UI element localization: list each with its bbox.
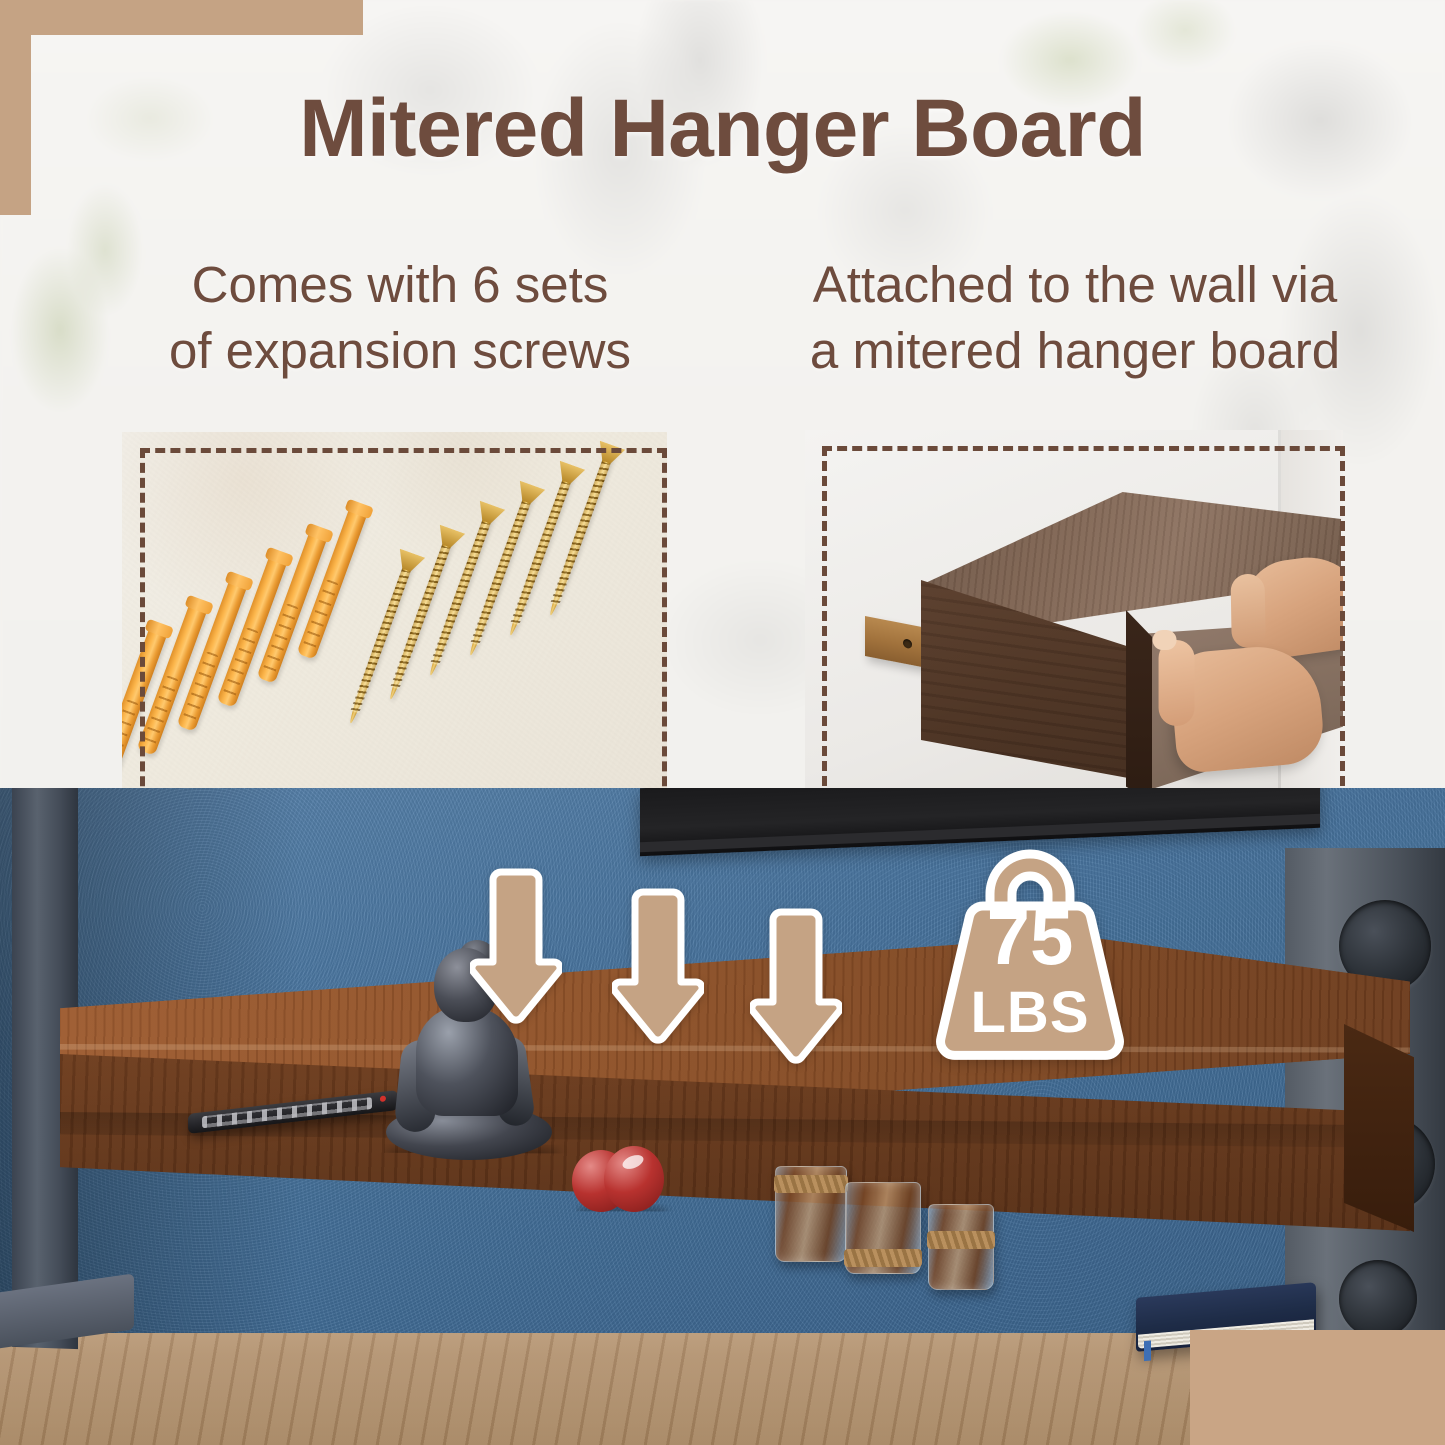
- page-title: Mitered Hanger Board: [0, 82, 1445, 176]
- thumb: [1159, 640, 1195, 726]
- caption-line-1: Attached to the wall via: [735, 252, 1415, 318]
- weight-capacity-badge: 75 LBS: [905, 842, 1155, 1074]
- arrow-down-icon: [470, 866, 562, 1026]
- thumbnail: [1153, 630, 1177, 650]
- shelf-right-end-cap: [1344, 1024, 1414, 1232]
- photo-expansion-screws: [122, 432, 667, 822]
- caption-line-2: a mitered hanger board: [735, 318, 1415, 384]
- weight-unit: LBS: [905, 984, 1155, 1042]
- shelf-front-face: [60, 1054, 1410, 1300]
- remote-power-button: [380, 1095, 386, 1102]
- arrow-down-icon: [612, 886, 704, 1046]
- caption-line-2: of expansion screws: [95, 318, 705, 384]
- thumb: [1230, 574, 1265, 649]
- caption-line-1: Comes with 6 sets: [95, 252, 705, 318]
- infographic-root: Mitered Hanger Board Comes with 6 sets o…: [0, 0, 1445, 1445]
- plaster-backdrop: [122, 432, 667, 822]
- jar-rope-wrap: [844, 1249, 922, 1267]
- photo-hanger-board-install: [805, 430, 1343, 822]
- glass-jar: [775, 1166, 847, 1262]
- weight-value: 75: [905, 898, 1155, 976]
- shelf-mitered-edge: [1126, 610, 1152, 802]
- corner-bracket-horizontal-bar: [0, 0, 363, 35]
- glass-jar: [928, 1204, 994, 1290]
- corner-block-bottom-right: [1190, 1330, 1445, 1445]
- book-ribbon: [1144, 1341, 1151, 1362]
- arrow-down-icon: [750, 906, 842, 1066]
- heart-ornament: [572, 1146, 664, 1218]
- feature-caption-expansion-screws: Comes with 6 sets of expansion screws: [95, 252, 705, 385]
- jar-rope-wrap: [927, 1231, 995, 1249]
- glass-jar: [845, 1182, 921, 1274]
- feature-caption-hanger-board: Attached to the wall via a mitered hange…: [735, 252, 1415, 385]
- floating-shelf: [60, 936, 1410, 1306]
- jar-rope-wrap: [774, 1175, 848, 1193]
- cleat-screw-hole: [903, 638, 912, 649]
